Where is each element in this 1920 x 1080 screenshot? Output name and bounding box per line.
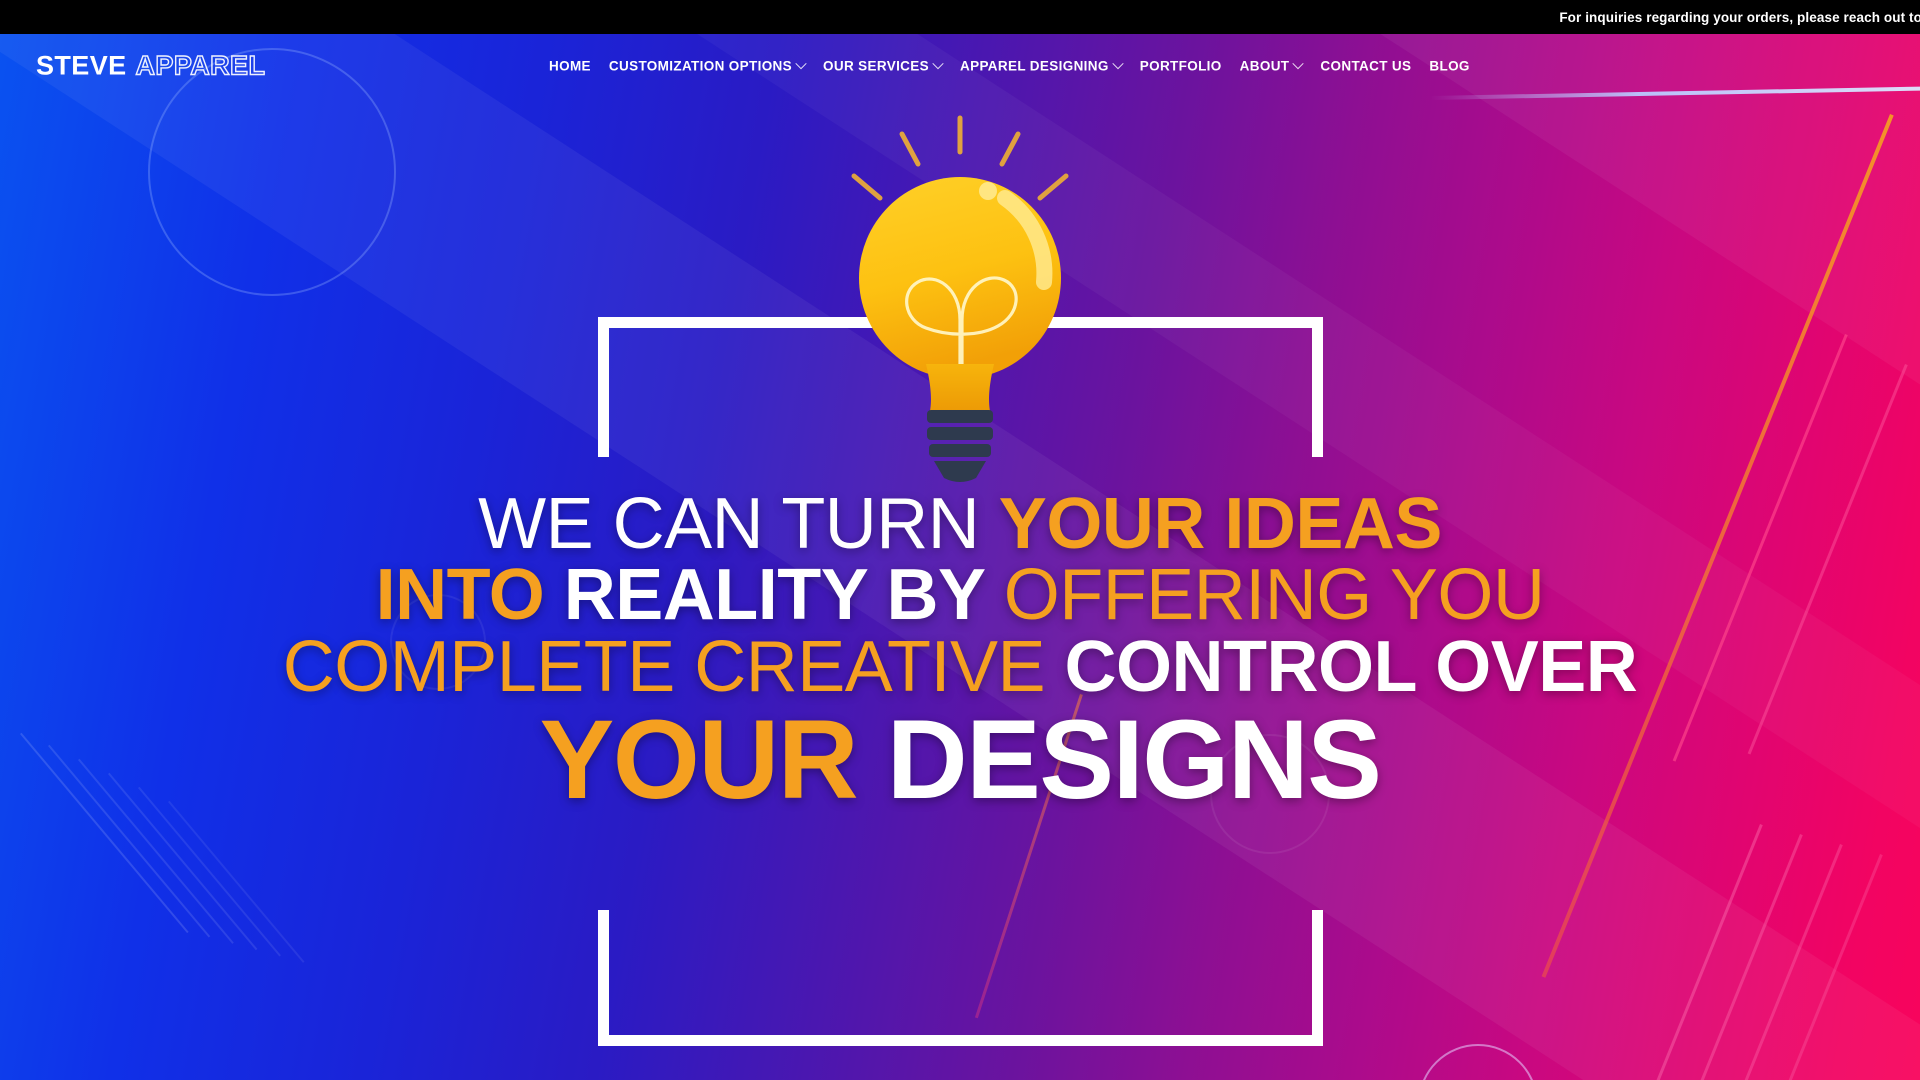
headline-seg: REALITY BY bbox=[564, 555, 984, 635]
logo-primary-text: STEVE bbox=[36, 51, 127, 82]
headline-seg: OFFERING YOU bbox=[1004, 555, 1545, 635]
nav-label: CONTACT US bbox=[1320, 59, 1411, 74]
chevron-down-icon bbox=[795, 58, 806, 69]
headline-seg: YOUR IDEAS bbox=[999, 484, 1442, 564]
nav-label: PORTFOLIO bbox=[1140, 59, 1222, 74]
nav-item-about[interactable]: ABOUT bbox=[1231, 53, 1312, 80]
nav-label: CUSTOMIZATION OPTIONS bbox=[609, 59, 792, 74]
nav-label: HOME bbox=[549, 59, 591, 74]
nav-item-apparel-designing[interactable]: APPAREL DESIGNING bbox=[951, 53, 1131, 80]
headline-line-3: COMPLETE CREATIVE CONTROL OVER bbox=[0, 632, 1920, 703]
nav-item-home[interactable]: HOME bbox=[540, 53, 600, 80]
nav-item-blog[interactable]: BLOG bbox=[1420, 53, 1478, 80]
headline-line-4: YOUR DESIGNS bbox=[0, 705, 1920, 816]
pink-hatch-4 bbox=[1768, 854, 1883, 1080]
hero-headline: WE CAN TURN YOUR IDEAS INTO REALITY BY O… bbox=[0, 489, 1920, 816]
announcement-text: For inquiries regarding your orders, ple… bbox=[1559, 10, 1920, 25]
hatch-6 bbox=[168, 801, 305, 963]
headline-seg: CONTROL OVER bbox=[1065, 627, 1638, 707]
nav-item-our-services[interactable]: OUR SERVICES bbox=[814, 53, 951, 80]
page-root: WE CAN TURN YOUR IDEAS INTO REALITY BY O… bbox=[0, 0, 1920, 1080]
headline-seg: INTO bbox=[376, 555, 545, 635]
announcement-bar: For inquiries regarding your orders, ple… bbox=[0, 0, 1920, 34]
pink-hatch-1 bbox=[1648, 824, 1763, 1080]
nav-label: OUR SERVICES bbox=[823, 59, 929, 74]
site-logo[interactable]: STEVE APPAREL bbox=[36, 51, 265, 82]
frame-bracket-bottom bbox=[598, 910, 1323, 1046]
lightbulb-icon bbox=[830, 112, 1090, 484]
main-navigation: HOME CUSTOMIZATION OPTIONS OUR SERVICES … bbox=[540, 53, 1479, 80]
headline-seg: YOUR bbox=[540, 697, 858, 822]
nav-label: BLOG bbox=[1429, 59, 1469, 74]
headline-line-2: INTO REALITY BY OFFERING YOU bbox=[0, 560, 1920, 631]
chevron-down-icon bbox=[1293, 58, 1304, 69]
headline-seg: DESIGNS bbox=[887, 697, 1381, 822]
nav-item-contact-us[interactable]: CONTACT US bbox=[1311, 53, 1420, 80]
chevron-down-icon bbox=[932, 58, 943, 69]
pink-hatch-3 bbox=[1728, 844, 1843, 1080]
headline-line-1: WE CAN TURN YOUR IDEAS bbox=[0, 489, 1920, 560]
nav-label: APPAREL DESIGNING bbox=[960, 59, 1109, 74]
chevron-down-icon bbox=[1112, 58, 1123, 69]
nav-item-portfolio[interactable]: PORTFOLIO bbox=[1131, 53, 1231, 80]
headline-seg: WE CAN TURN bbox=[478, 484, 979, 564]
nav-item-customization-options[interactable]: CUSTOMIZATION OPTIONS bbox=[600, 53, 814, 80]
hero-section: WE CAN TURN YOUR IDEAS INTO REALITY BY O… bbox=[0, 34, 1920, 1080]
nav-label: ABOUT bbox=[1240, 59, 1290, 74]
pink-hatch-2 bbox=[1688, 834, 1803, 1080]
site-header: STEVE APPAREL HOME CUSTOMIZATION OPTIONS… bbox=[0, 34, 1920, 98]
headline-seg: COMPLETE CREATIVE bbox=[283, 627, 1045, 707]
circle-bottom-right bbox=[1418, 1044, 1538, 1080]
logo-secondary-text: APPAREL bbox=[136, 51, 266, 82]
